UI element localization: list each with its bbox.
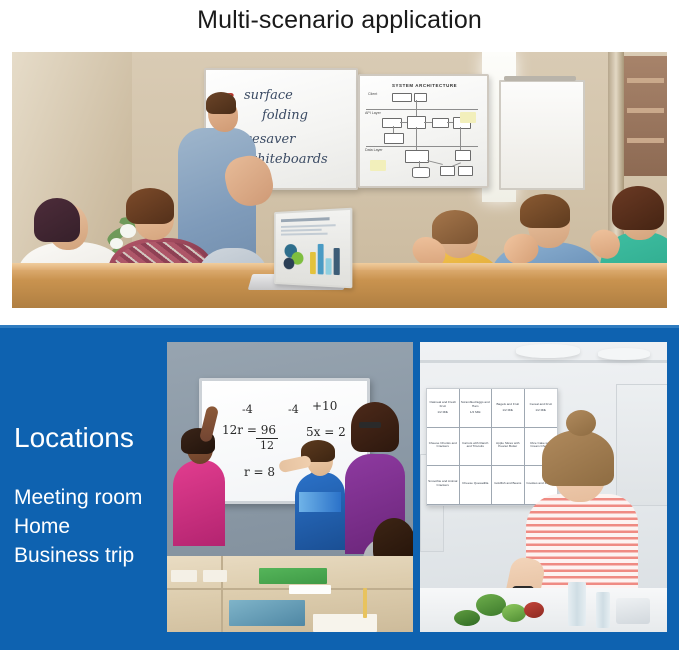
- ceiling-lamp: [598, 348, 650, 360]
- meal-plan-cell-main: Cheese Chunks and Crackers: [428, 442, 458, 450]
- locations-heading: Locations: [14, 422, 134, 454]
- locations-panel: Locations Meeting room Home Business tri…: [0, 325, 679, 650]
- meal-plan-cell-main: Scrambled Eggs and Ham: [461, 401, 491, 409]
- meal-plan-cell: Smoothie and Animal Crackers: [427, 466, 460, 505]
- pencil: [363, 588, 367, 618]
- architecture-node: [458, 166, 473, 176]
- location-item-business-trip: Business trip: [14, 541, 142, 570]
- architecture-connector: [447, 122, 453, 123]
- whiteboard-architecture: SYSTEM ARCHITECTURE Client API Layer Dat…: [358, 74, 489, 188]
- paper: [171, 570, 197, 582]
- meal-plan-cell-main: Oatmeal and Fresh Fruit: [428, 401, 458, 409]
- architecture-node: [455, 150, 471, 161]
- poster: [229, 600, 305, 626]
- architecture-node: [392, 93, 412, 102]
- meal-plan-cell: Bagels and Fruit 1/2 Milk: [492, 389, 525, 428]
- meal-plan-cell-sub: 1/2 Milk: [437, 411, 448, 415]
- meal-plan-cell: Cheese Chunks and Crackers: [427, 428, 460, 467]
- paper: [289, 585, 331, 594]
- architecture-node: [382, 118, 402, 128]
- meal-plan-cell-main: Carrots with Ranch and Triscuits: [461, 442, 491, 450]
- equation-top-mid: -4: [288, 403, 299, 416]
- audience-member-hair: [34, 198, 80, 242]
- meal-plan-cell: Apple Slices with Peanut Butter: [492, 428, 525, 467]
- architecture-connector: [427, 160, 443, 165]
- woman-hair: [542, 430, 614, 486]
- bottle: [568, 582, 586, 626]
- architecture-connector: [416, 127, 417, 150]
- ceiling-line: [420, 360, 667, 363]
- page-title: Multi-scenario application: [0, 0, 679, 52]
- architecture-divider-1: [366, 109, 478, 110]
- meeting-room-photo: 3 surface folding spacesaver whiteboards…: [12, 52, 667, 308]
- meal-plan-cell: Oatmeal and Fresh Fruit 1/2 Milk: [427, 389, 460, 428]
- container: [616, 598, 650, 624]
- architecture-divider-2: [366, 146, 478, 147]
- architecture-database: [412, 167, 430, 178]
- green-folder: [259, 568, 327, 584]
- equation-right-first: 5x = 2: [306, 425, 346, 439]
- architecture-connector: [393, 126, 394, 133]
- desk-seam: [221, 556, 223, 632]
- architecture-connector: [419, 161, 420, 167]
- paper: [203, 570, 227, 582]
- student-shirt-stripe: [299, 492, 341, 512]
- architecture-layer-label-api: API Layer: [365, 111, 381, 115]
- architecture-node: [384, 133, 404, 144]
- tomato: [524, 602, 544, 618]
- architecture-node: [440, 166, 455, 176]
- whiteboard-line-2: surface: [244, 88, 293, 103]
- sticky-note: [370, 160, 386, 171]
- architecture-title: SYSTEM ARCHITECTURE: [392, 83, 457, 88]
- location-item-meeting-room: Meeting room: [14, 483, 142, 512]
- meal-plan-cell-main: Smoothie and Animal Crackers: [428, 480, 458, 488]
- meal-plan-cell-sub: 1/2 Milk: [502, 409, 513, 413]
- vegetable: [454, 610, 480, 626]
- audience-member-hair: [520, 194, 570, 228]
- audience-member-hair: [432, 210, 478, 244]
- ceiling-lamp: [516, 344, 580, 358]
- meal-plan-cell: Cheese Quesadilla: [460, 466, 493, 505]
- kitchen-photo: Oatmeal and Fresh Fruit 1/2 Milk Scrambl…: [420, 342, 667, 632]
- architecture-node: [432, 118, 449, 128]
- equation-top-left: -4: [242, 403, 253, 416]
- equation-left-denominator: 12: [260, 439, 274, 452]
- panel-top-edge: [0, 325, 679, 328]
- teacher-glasses: [359, 422, 381, 428]
- meal-plan-cell-main: Cereal and Fruit: [530, 403, 552, 407]
- meal-plan-cell-main: Cheese Quesadilla: [462, 482, 488, 486]
- meal-plan-cell: Cereal and Fruit 1/2 Milk: [525, 389, 558, 428]
- kitchen-cabinet: [616, 384, 667, 506]
- architecture-layer-label-data: Data Layer: [365, 148, 383, 152]
- student-body-pink: [173, 460, 225, 546]
- classroom-photo: -4 -4 +10 12r = 96 12 r = 8 5x = 2 x =: [167, 342, 413, 632]
- architecture-connector: [460, 127, 461, 150]
- sticky-note: [460, 112, 476, 123]
- architecture-connector: [400, 122, 407, 123]
- meal-plan-cell-sub: 1/2 Milk: [535, 409, 546, 413]
- equation-left-result: r = 8: [244, 465, 275, 479]
- flipchart-clamp: [504, 76, 576, 81]
- meal-plan-cell-main: Goldfish and Beans: [494, 482, 521, 486]
- meal-plan-board: Oatmeal and Fresh Fruit 1/2 Milk Scrambl…: [426, 388, 558, 506]
- vegetable: [502, 604, 526, 622]
- architecture-node: [405, 150, 429, 163]
- paper: [313, 614, 377, 632]
- presenter-hair: [206, 92, 236, 114]
- whiteboard-line-3: folding: [262, 108, 308, 123]
- flipchart-easel: [499, 80, 585, 190]
- meal-plan-cell-sub: 1/2 Milk: [470, 411, 481, 415]
- architecture-layer-label-client: Client: [368, 92, 377, 96]
- architecture-connector: [416, 100, 417, 116]
- audience-member-hair: [612, 186, 664, 230]
- equation-top-right: +10: [312, 399, 337, 413]
- meal-plan-cell-main: Apple Slices with Peanut Butter: [493, 442, 523, 450]
- locations-list: Meeting room Home Business trip: [14, 483, 142, 570]
- bottle: [596, 592, 610, 628]
- woman-hair-bun: [566, 410, 596, 436]
- architecture-connector: [424, 122, 432, 123]
- audience-member-hair: [126, 188, 174, 224]
- shelf: [624, 56, 667, 176]
- laptop-screen: [274, 208, 352, 289]
- equation-left-numerator: 12r = 96: [222, 423, 276, 437]
- meal-plan-cell: Carrots with Ranch and Triscuits: [460, 428, 493, 467]
- meal-plan-cell: Goldfish and Beans: [492, 466, 525, 505]
- meal-plan-cell-main: Bagels and Fruit: [496, 403, 519, 407]
- meal-plan-cell: Scrambled Eggs and Ham 1/2 Milk: [460, 389, 493, 428]
- location-item-home: Home: [14, 512, 142, 541]
